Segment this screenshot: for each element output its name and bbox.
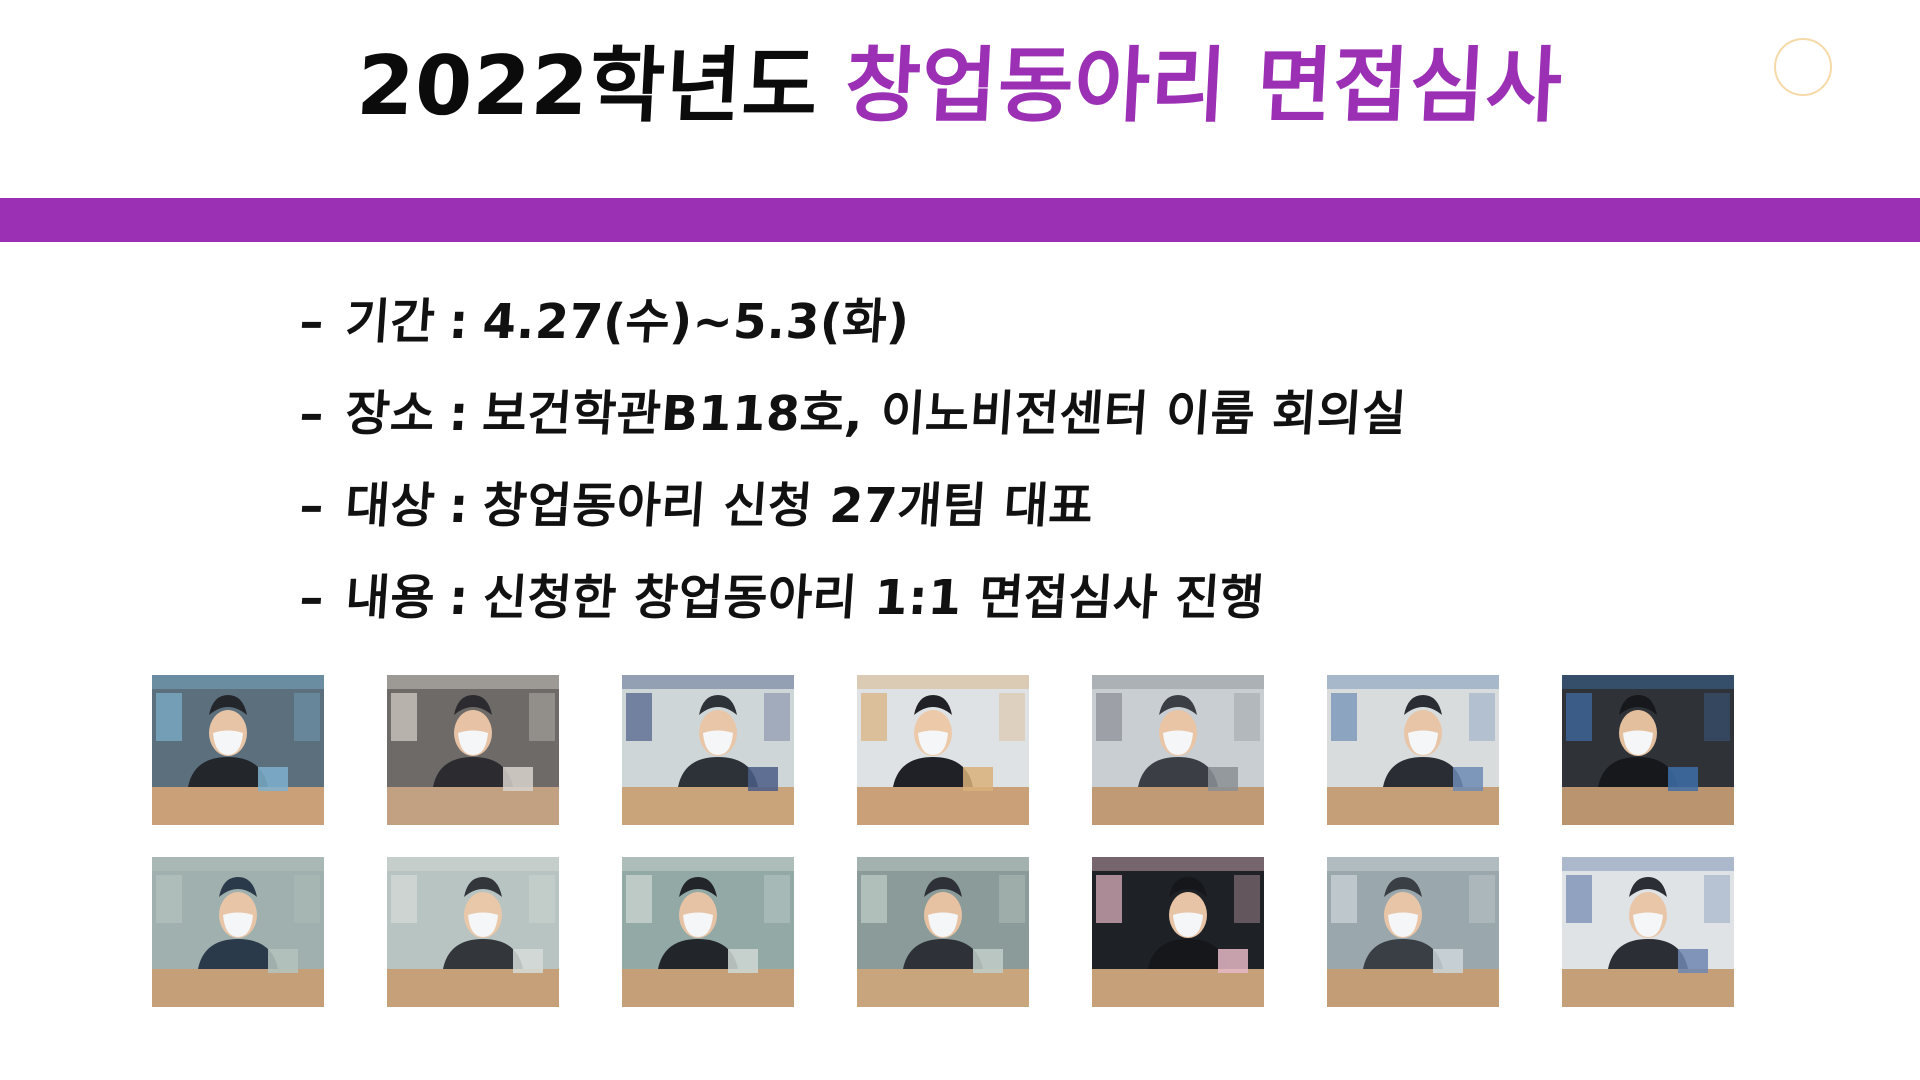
info-colon-period: : bbox=[433, 294, 485, 350]
interview-photo bbox=[857, 675, 1029, 825]
interview-photo-grid bbox=[152, 675, 1792, 1007]
info-row-target: – 대상 : 창업동아리 신청 27개팀 대표 bbox=[298, 466, 1703, 536]
photo-illustration bbox=[387, 675, 559, 825]
interview-photo bbox=[152, 857, 324, 1007]
purple-band-divider bbox=[0, 198, 1920, 242]
info-row-location: – 장소 : 보건학관B118호, 이노비전센터 이룸 회의실 bbox=[298, 374, 1703, 444]
page-title: 2022학년도창업동아리 면접심사 bbox=[0, 40, 1920, 134]
interview-photo bbox=[1092, 857, 1264, 1007]
interview-photo bbox=[152, 675, 324, 825]
info-label-content: 내용 bbox=[344, 558, 438, 628]
info-value-content: 신청한 창업동아리 1:1 면접심사 진행 bbox=[481, 558, 1267, 628]
bullet-dash-icon: – bbox=[298, 570, 348, 626]
interview-photo bbox=[622, 675, 794, 825]
page-title-primary: 2022학년도 bbox=[355, 40, 821, 134]
bullet-dash-icon: – bbox=[298, 294, 348, 350]
photo-illustration bbox=[152, 857, 324, 1007]
info-label-target: 대상 bbox=[344, 466, 438, 536]
photo-illustration bbox=[622, 857, 794, 1007]
info-value-target: 창업동아리 신청 27개팀 대표 bbox=[481, 466, 1097, 536]
interview-photo bbox=[1562, 675, 1734, 825]
interview-photo bbox=[622, 857, 794, 1007]
photo-illustration bbox=[1327, 675, 1499, 825]
page-title-accent: 창업동아리 면접심사 bbox=[843, 40, 1565, 134]
info-label-period: 기간 bbox=[344, 282, 438, 352]
photo-illustration bbox=[1562, 675, 1734, 825]
interview-photo bbox=[1562, 857, 1734, 1007]
interview-photo bbox=[387, 857, 559, 1007]
bullet-dash-icon: – bbox=[298, 478, 348, 534]
interview-photo bbox=[1327, 857, 1499, 1007]
photo-illustration bbox=[1092, 675, 1264, 825]
photo-illustration bbox=[857, 675, 1029, 825]
info-value-period: 4.27(수)~5.3(화) bbox=[481, 282, 913, 352]
info-colon-content: : bbox=[433, 570, 485, 626]
bullet-dash-icon: – bbox=[298, 386, 348, 442]
interview-photo bbox=[857, 857, 1029, 1007]
photo-illustration bbox=[1092, 857, 1264, 1007]
interview-photo bbox=[1092, 675, 1264, 825]
photo-illustration bbox=[622, 675, 794, 825]
info-value-location: 보건학관B118호, 이노비전센터 이룸 회의실 bbox=[481, 374, 1410, 444]
photo-illustration bbox=[387, 857, 559, 1007]
info-row-period: – 기간 : 4.27(수)~5.3(화) bbox=[298, 282, 1703, 352]
photo-illustration bbox=[152, 675, 324, 825]
interview-photo bbox=[387, 675, 559, 825]
info-label-location: 장소 bbox=[344, 374, 438, 444]
info-colon-location: : bbox=[433, 386, 485, 442]
info-row-content: – 내용 : 신청한 창업동아리 1:1 면접심사 진행 bbox=[298, 558, 1703, 628]
info-colon-target: : bbox=[433, 478, 485, 534]
event-info-list: – 기간 : 4.27(수)~5.3(화) – 장소 : 보건학관B118호, … bbox=[300, 282, 1700, 650]
photo-illustration bbox=[857, 857, 1029, 1007]
photo-illustration bbox=[1327, 857, 1499, 1007]
photo-illustration bbox=[1562, 857, 1734, 1007]
interview-photo bbox=[1327, 675, 1499, 825]
